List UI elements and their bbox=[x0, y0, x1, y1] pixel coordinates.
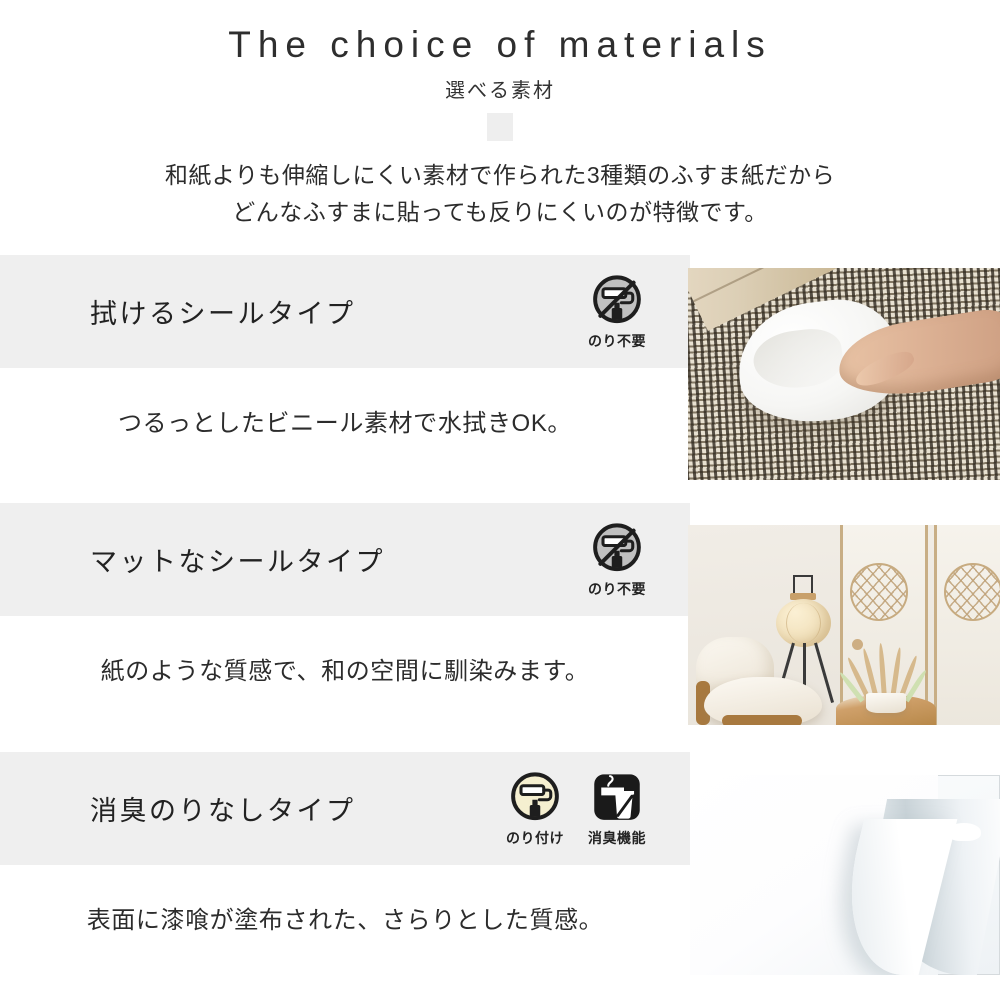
deodorize-icon bbox=[589, 770, 645, 826]
page-title-ja: 選べる素材 bbox=[0, 74, 1000, 103]
section-title: 拭けるシールタイプ bbox=[90, 292, 356, 331]
paper-lamp-shade bbox=[776, 599, 831, 647]
lead-line-2: どんなふすまに貼っても反りにくいのが特徴です。 bbox=[0, 194, 1000, 230]
no-glue-roller-icon bbox=[589, 521, 645, 577]
badge-deodorize: 消臭機能 bbox=[584, 770, 650, 848]
screen-knob bbox=[852, 639, 863, 650]
badge-label: のり不要 bbox=[584, 331, 650, 351]
section-title: 消臭のりなしタイプ bbox=[90, 789, 356, 828]
section-description: 紙のような質感で、和の空間に馴染みます。 bbox=[0, 651, 690, 686]
badge-group: のり不要 bbox=[584, 521, 650, 599]
armchair-base bbox=[722, 715, 802, 725]
towel-wiping-woven-mat-photo bbox=[688, 268, 1000, 480]
badge-no-glue: のり不要 bbox=[584, 521, 650, 599]
finger bbox=[852, 346, 917, 392]
badge-label: のり不要 bbox=[584, 579, 650, 599]
badge-no-glue: のり不要 bbox=[584, 273, 650, 351]
section-description: 表面に漆喰が塗布された、さらりとした質感。 bbox=[0, 900, 690, 935]
badge-group: のり付け 消臭機能 bbox=[502, 770, 650, 848]
page-title-en: The choice of materials bbox=[0, 22, 1000, 68]
lead-line-1: 和紙よりも伸縮しにくい素材で作られた3種類のふすま紙だから bbox=[0, 157, 1000, 193]
plant-pot bbox=[866, 693, 906, 713]
japanese-interior-room-photo bbox=[688, 525, 1000, 725]
lamp-frame-top bbox=[793, 575, 813, 593]
divider-square bbox=[487, 113, 513, 141]
page-header: The choice of materials 選べる素材 和紙よりも伸縮しにく… bbox=[0, 0, 1000, 230]
glue-roller-icon bbox=[507, 770, 563, 826]
badge-label: 消臭機能 bbox=[584, 828, 650, 848]
badge-with-glue: のり付け bbox=[502, 770, 568, 848]
section-title: マットなシールタイプ bbox=[90, 540, 385, 579]
lattice-circle-center bbox=[850, 563, 908, 621]
paper-curl-tip bbox=[947, 823, 981, 841]
section-description: つるっとしたビニール素材で水拭きOK。 bbox=[0, 403, 690, 438]
badge-group: のり不要 bbox=[584, 273, 650, 351]
no-glue-roller-icon bbox=[589, 273, 645, 329]
fusuma-screen-right bbox=[934, 525, 1000, 725]
badge-label: のり付け bbox=[502, 828, 568, 848]
white-paper-sheet-curl-photo bbox=[690, 775, 1000, 975]
lattice-circle-right bbox=[944, 563, 1000, 621]
